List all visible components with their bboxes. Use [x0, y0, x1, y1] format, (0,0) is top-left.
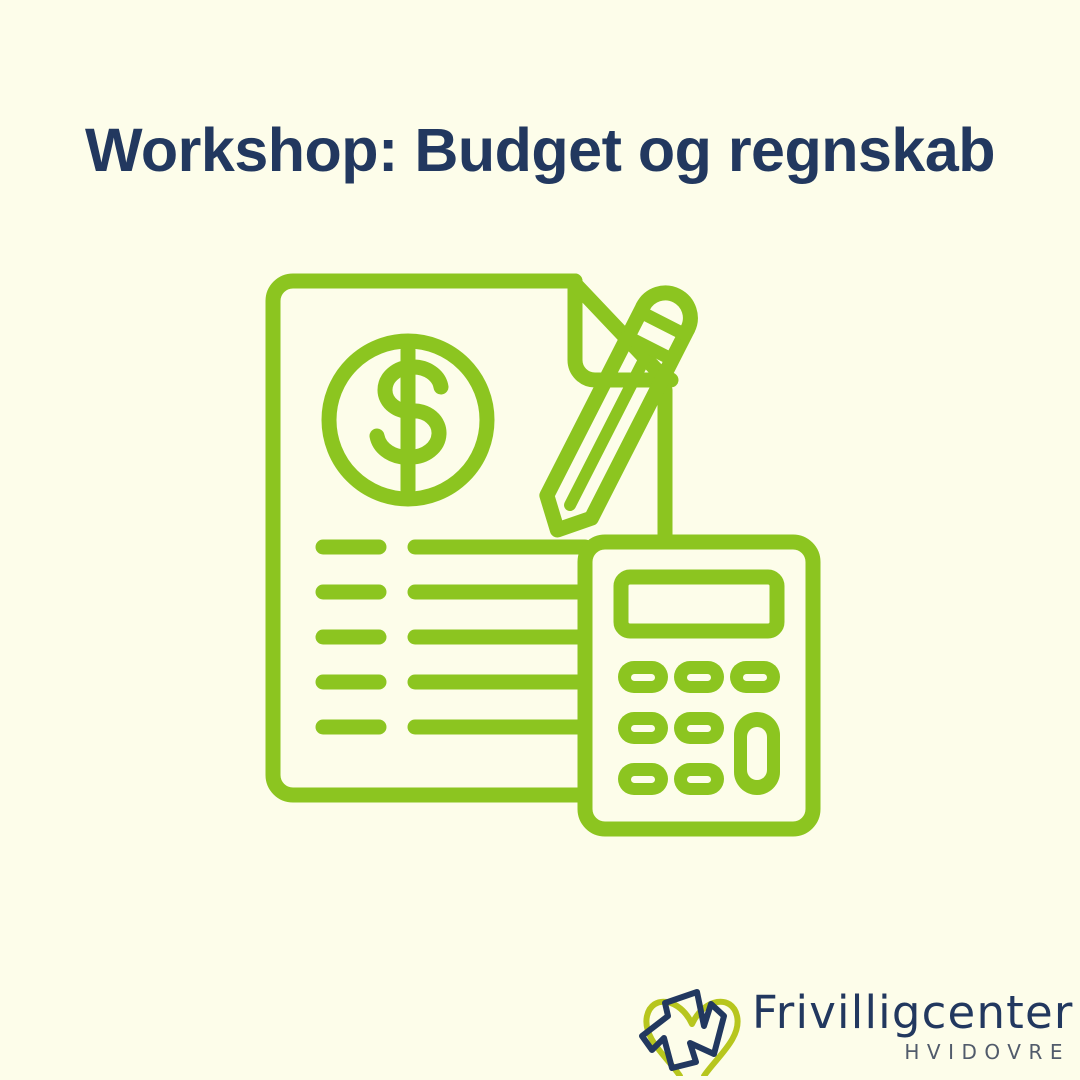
page-title: Workshop: Budget og regnskab	[0, 118, 1080, 184]
line-items-group	[323, 547, 585, 727]
calculator-key-glyph-r2c2	[687, 725, 711, 732]
calculator-key-glyph-r1c3	[743, 674, 767, 681]
logo-text-block: Frivilligcenter HVIDOVRE	[752, 980, 1074, 1076]
document-sheet-outline	[273, 281, 595, 795]
calculator-key-glyph-r1c2	[687, 674, 711, 681]
logo-wordmark: Frivilligcenter	[752, 990, 1074, 1035]
illustration-svg	[255, 250, 835, 840]
poster-canvas: Workshop: Budget og regnskab	[0, 0, 1080, 1080]
calculator-key-zero-glyph	[747, 727, 767, 780]
calculator-icon	[585, 542, 813, 829]
title-block: Workshop: Budget og regnskab	[0, 118, 1080, 184]
calculator-key-glyph-r2c1	[631, 725, 655, 732]
frivilligcenter-mark-icon	[634, 980, 752, 1076]
pencil-ferrule-band-1	[640, 312, 685, 335]
logo-mark-svg	[634, 980, 752, 1076]
calculator-key-glyph-r3c2	[687, 776, 711, 783]
calculator-key-glyph-r3c1	[631, 776, 655, 783]
calculator-key-glyph-r1c1	[631, 674, 655, 681]
organization-logo: Frivilligcenter HVIDOVRE	[634, 980, 1074, 1076]
logo-subtext: HVIDOVRE	[752, 1042, 1074, 1062]
calculator-display	[621, 577, 777, 631]
budget-illustration	[255, 250, 835, 840]
